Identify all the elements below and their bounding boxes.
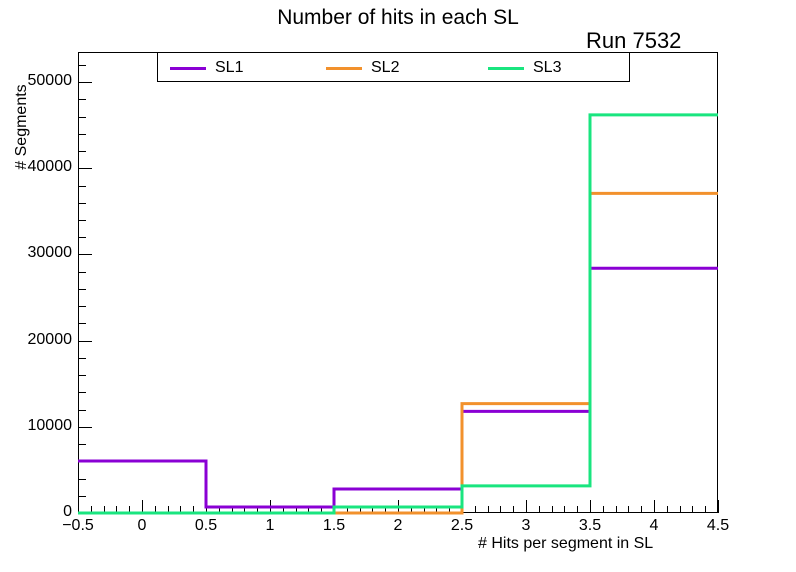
legend-entry-sl2[interactable]: SL2 <box>326 53 399 83</box>
legend-label: SL1 <box>215 59 243 77</box>
legend-swatch-sl3 <box>488 67 524 70</box>
legend-label: SL2 <box>371 59 399 77</box>
legend-swatch-sl2 <box>326 67 362 70</box>
legend-entry-sl3[interactable]: SL3 <box>488 53 561 83</box>
histogram-series-sl2 <box>78 193 718 513</box>
histogram-series-sl3 <box>78 115 718 513</box>
chart-canvas: Number of hits in each SL Run 7532 # Seg… <box>0 0 796 572</box>
histogram-series-sl1 <box>78 268 718 507</box>
legend-entry-sl1[interactable]: SL1 <box>170 53 243 83</box>
legend: SL1SL2SL3 <box>157 52 630 82</box>
histogram-data-layer <box>0 0 796 572</box>
legend-swatch-sl1 <box>170 67 206 70</box>
legend-label: SL3 <box>533 59 561 77</box>
